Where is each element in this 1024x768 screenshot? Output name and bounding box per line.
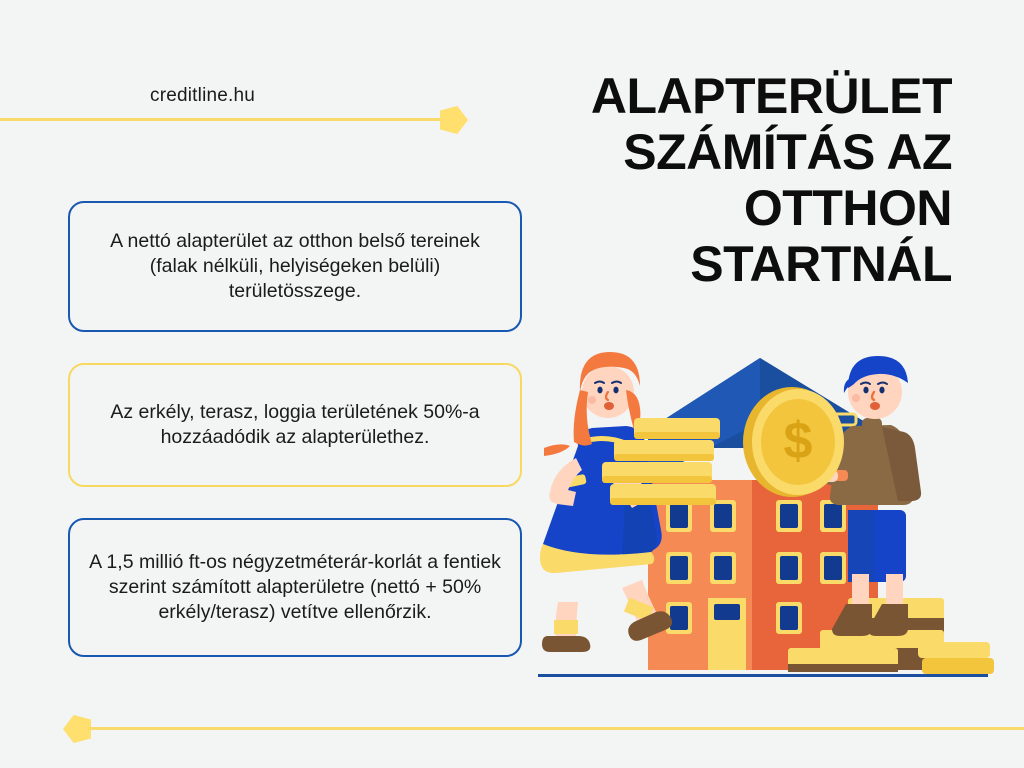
fact-card-2: Az erkély, terasz, loggia területének 50… bbox=[68, 363, 522, 487]
site-label: creditline.hu bbox=[150, 85, 255, 107]
fact-card-1-text: A nettó alapterület az otthon belső tere… bbox=[88, 229, 502, 304]
pentagon-marker-icon bbox=[63, 715, 91, 743]
fact-card-2-text: Az erkély, terasz, loggia területének 50… bbox=[88, 400, 502, 450]
page-title-line-4: STARTNÁL bbox=[532, 236, 952, 292]
fact-card-3-text: A 1,5 millió ft-os négyzetméterár-korlát… bbox=[88, 550, 502, 625]
bottom-divider-line bbox=[88, 727, 1024, 730]
savings-house-illustration: $ bbox=[530, 330, 1000, 692]
svg-text:$: $ bbox=[784, 412, 813, 470]
infographic-canvas: creditline.hu ALAPTERÜLET SZÁMÍTÁS AZ OT… bbox=[0, 0, 1024, 768]
page-title-line-3: OTTHON bbox=[532, 180, 952, 236]
page-title-line-1: ALAPTERÜLET bbox=[532, 68, 952, 124]
pentagon-marker-icon bbox=[440, 106, 468, 134]
page-title: ALAPTERÜLET SZÁMÍTÁS AZ OTTHON STARTNÁL bbox=[532, 68, 952, 292]
fact-card-1: A nettó alapterület az otthon belső tere… bbox=[68, 201, 522, 332]
top-divider-line bbox=[0, 118, 452, 121]
page-title-line-2: SZÁMÍTÁS AZ bbox=[532, 124, 952, 180]
fact-card-3: A 1,5 millió ft-os négyzetméterár-korlát… bbox=[68, 518, 522, 657]
